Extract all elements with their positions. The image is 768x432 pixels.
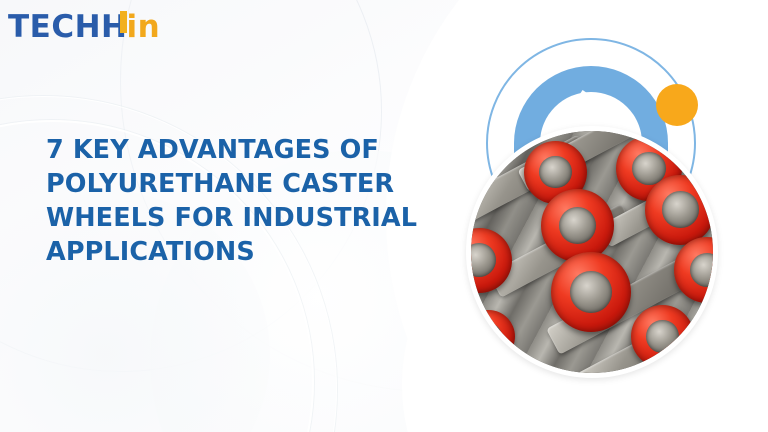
headline-line-1: 7 KEY ADVANTAGES OF [46, 135, 379, 165]
emblem-dot-icon [656, 84, 698, 126]
product-photo-caster-wheels [466, 126, 718, 378]
page-title: 7 KEY ADVANTAGES OF POLYURETHANE CASTER … [46, 133, 446, 270]
logo-text-secondary: in [126, 9, 160, 45]
caster-wheel [551, 252, 631, 332]
caster-wheel [541, 189, 614, 262]
logo-text-primary: TECH [8, 9, 101, 45]
brand-logo[interactable]: TECH H in [8, 9, 160, 45]
headline-line-2: POLYURETHANE CASTER [46, 169, 394, 199]
caster-wheel [631, 305, 694, 368]
logo-letter-h: H [101, 9, 126, 45]
product-photo-inner [471, 131, 713, 373]
logo-h-accent-bar [120, 11, 127, 33]
headline-line-4: APPLICATIONS [46, 237, 255, 267]
caster-wheel [645, 175, 713, 245]
headline-line-3: WHEELS FOR INDUSTRIAL [46, 203, 417, 233]
promo-banner: TECH H in 7 KEY ADVANTAGES OF POLYURETHA… [0, 0, 768, 432]
